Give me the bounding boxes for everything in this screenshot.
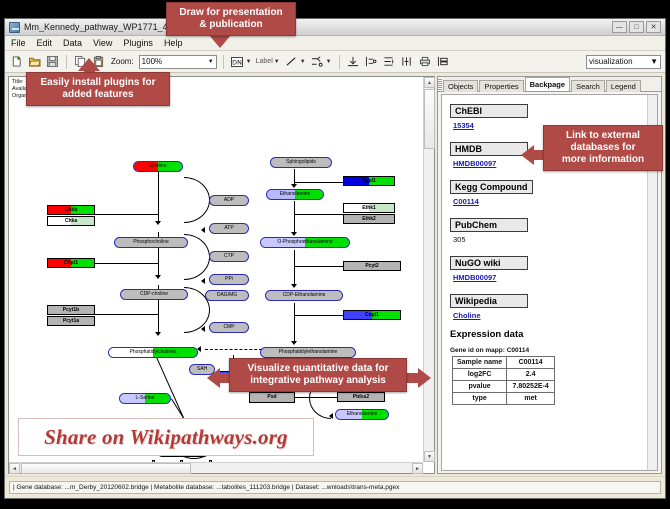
metabolite-node-dag-mg[interactable]: DAG/MG: [205, 290, 249, 301]
window-controls: — □ ✕: [612, 21, 661, 33]
expression-data-table: Sample name C00114 log2FC 2.4 pvalue 7.8…: [452, 356, 555, 405]
callout-visualize-data: Visualize quantitative data for integrat…: [229, 358, 407, 392]
cell-value: C00114: [507, 357, 555, 369]
metabolite-label: Phosphatidylethanolamine: [279, 350, 338, 355]
callout-draw-for-publication: Draw for presentation & publication: [166, 2, 296, 36]
gene-label: Ethk2: [362, 217, 376, 222]
metabolite-label: O-Phosphoethanolamine: [277, 240, 332, 245]
gene-node-chpt1[interactable]: Chpt1: [47, 258, 95, 268]
line-dropdown-icon[interactable]: ▼: [300, 59, 306, 65]
menu-item-help[interactable]: Help: [163, 38, 184, 48]
canvas-horizontal-scrollbar[interactable]: ◄ ►: [9, 462, 423, 473]
shape-tool-icon[interactable]: [310, 54, 325, 69]
tab-search[interactable]: Search: [571, 80, 605, 92]
callout-draw-arrow-icon: [209, 35, 231, 48]
edge-chpt1-to-reaction: [95, 263, 158, 264]
gene-node-pcyt2[interactable]: Pcyt2: [343, 261, 401, 271]
gene-label: Cept1: [365, 313, 379, 318]
open-folder-icon[interactable]: [27, 54, 42, 69]
align-left-icon[interactable]: [364, 54, 379, 69]
metabolite-node-phosphatidylethanolamine[interactable]: Phosphatidylethanolamine: [260, 347, 356, 358]
toolbar-separator-3: [339, 55, 340, 69]
datanode-tool-icon[interactable]: DN: [230, 54, 245, 69]
metabolite-label: PPi: [225, 277, 233, 282]
edge-ptdetn-to-ptdcholine: [205, 349, 267, 350]
metabolite-label: Choline: [150, 164, 167, 169]
save-icon[interactable]: [45, 54, 60, 69]
edge-ethanolamine-to-ophospho: [294, 201, 295, 233]
metabolite-node-cdp-ethanolamine[interactable]: CDP-Ethanolamine: [265, 290, 343, 301]
table-row: type met: [453, 393, 555, 405]
metabolite-label: ADP: [224, 198, 234, 203]
cofactor-curve-choline: [158, 177, 210, 223]
toolbar-separator-2: [223, 55, 224, 69]
cell-key: log2FC: [453, 369, 507, 381]
metabolite-label: Phosphatidylcholines: [130, 350, 177, 355]
metabolite-node-atp[interactable]: ATP: [209, 223, 249, 234]
chevron-down-icon: ▼: [650, 57, 658, 66]
menu-item-edit[interactable]: Edit: [36, 38, 54, 48]
edge-chk-to-reaction: [95, 214, 158, 215]
arrow-to-phosphocholine: [155, 221, 161, 225]
gene-label: Chpt1: [64, 261, 78, 266]
shape-dropdown-icon[interactable]: ▼: [326, 59, 332, 65]
edge-ptdcholine-to-choline-diag: [155, 355, 184, 419]
edge-pcyt1-to-reaction: [95, 314, 158, 315]
expression-data-title: Expression data: [450, 329, 641, 340]
callout-external-links: Link to external databases for more info…: [543, 125, 663, 171]
cell-value: met: [507, 393, 555, 405]
gene-node-sgpl1[interactable]: Sgpl1: [343, 176, 395, 186]
print-icon[interactable]: [418, 54, 433, 69]
metabolite-node-ctp[interactable]: CTP: [209, 251, 249, 262]
metabolite-node-cmp[interactable]: CMP: [209, 322, 249, 333]
backpage-header-nugo-wiki: NuGO wiki: [450, 256, 528, 270]
align-bottom-icon[interactable]: [346, 54, 361, 69]
gene-node-ethk2[interactable]: Ethk2: [343, 214, 395, 224]
metabolite-node-phosphocholine[interactable]: Phosphocholine: [114, 237, 188, 248]
close-button[interactable]: ✕: [646, 21, 661, 33]
backpage-header-wikipedia: Wikipedia: [450, 294, 528, 308]
metabolite-node-ppi[interactable]: PPi: [209, 274, 249, 285]
label-dropdown-icon[interactable]: ▼: [274, 59, 280, 65]
edge-cept1-to-reaction: [294, 315, 343, 316]
table-row: log2FC 2.4: [453, 369, 555, 381]
side-panel-tabs: Objects Properties Backpage Search Legen…: [438, 77, 661, 92]
menu-item-plugins[interactable]: Plugins: [122, 38, 154, 48]
value-pubchem: 305: [453, 235, 641, 244]
cell-key: type: [453, 393, 507, 405]
menu-item-file[interactable]: File: [10, 38, 27, 48]
metabolite-node-ethanolamine-2[interactable]: Ethanolamine: [335, 409, 389, 420]
menu-bar: File Edit Data View Plugins Help: [5, 36, 665, 51]
distribute-vertical-icon[interactable]: [382, 54, 397, 69]
tab-backpage[interactable]: Backpage: [525, 77, 570, 91]
chevron-down-icon: ▼: [208, 59, 214, 65]
maximize-button[interactable]: □: [629, 21, 644, 33]
arrow-to-phosphatidylethanolamine: [291, 341, 297, 345]
callout-visualize-line-2: integrative pathway analysis: [236, 375, 400, 387]
toolbar: Zoom: 100% ▼ DN ▼ Label ▼ ▼ ▼: [5, 51, 665, 73]
link-kegg-compound[interactable]: C00114: [453, 197, 641, 206]
scroll-down-arrow-icon[interactable]: ▼: [424, 451, 435, 462]
gene-label: Pcyt1a: [63, 319, 79, 324]
arrow-to-ppi: [201, 278, 205, 284]
metabolite-node-l-serine-left[interactable]: L-Serine: [119, 393, 171, 404]
gene-node-psd[interactable]: Psd: [249, 392, 295, 403]
gene-node-chkb[interactable]: Chkb: [47, 205, 95, 215]
arrow-to-atp: [201, 227, 205, 233]
metabolite-label: Ethanolamine: [280, 192, 311, 197]
canvas-vscroll-thumb[interactable]: [424, 89, 435, 149]
callout-draw-line-2: & publication: [173, 19, 289, 31]
callout-visualize-line-1: Visualize quantitative data for: [236, 363, 400, 375]
callout-visualize-right-stem: [405, 373, 419, 383]
metabolite-node-adp[interactable]: ADP: [209, 195, 249, 206]
stack-icon[interactable]: [436, 54, 451, 69]
gene-label: Pcyt1b: [63, 308, 79, 313]
gene-id-caption: Gene id on mapp: C00114: [450, 347, 641, 354]
arrow-to-cmp: [201, 326, 205, 332]
metabolite-node-phosphatidylcholines[interactable]: Phosphatidylcholines: [108, 347, 198, 358]
scroll-right-arrow-icon[interactable]: ►: [412, 463, 423, 474]
metabolite-label: CTP: [224, 254, 234, 259]
metabolite-label: Sphingolipids: [286, 160, 316, 165]
callout-links-line-1: Link to external: [550, 130, 656, 142]
gene-node-ptdss2[interactable]: Ptdss2: [337, 392, 385, 402]
pathway-canvas[interactable]: Title: Availa Organi: [9, 77, 423, 462]
metabolite-node-sphingolipids[interactable]: Sphingolipids: [270, 157, 332, 168]
metabolite-label: DAG/MG: [217, 293, 237, 298]
gene-node-pcyt1a[interactable]: Pcyt1a: [47, 316, 95, 326]
cell-value: 2.4: [507, 369, 555, 381]
zoom-combobox[interactable]: 100% ▼: [139, 55, 217, 69]
menu-item-data[interactable]: Data: [62, 38, 83, 48]
zoom-label: Zoom:: [111, 57, 134, 66]
tab-legend[interactable]: Legend: [606, 80, 641, 92]
gene-node-pcyt1b[interactable]: Pcyt1b: [47, 305, 95, 315]
toolbar-separator-1: [66, 55, 67, 69]
share-text: Share on Wikipathways.org: [44, 425, 288, 450]
backpage-header-chebi: ChEBI: [450, 104, 528, 118]
arrow-to-cdpethanolamine: [291, 284, 297, 288]
backpage-header-kegg-compound: Kegg Compound: [450, 180, 533, 194]
pathway-canvas-container: Title: Availa Organi: [8, 76, 435, 474]
visualization-combobox[interactable]: visualization ▼: [586, 55, 661, 69]
menu-item-view[interactable]: View: [92, 38, 113, 48]
scroll-left-arrow-icon[interactable]: ◄: [9, 463, 20, 474]
tab-properties[interactable]: Properties: [479, 80, 523, 92]
scroll-up-arrow-icon[interactable]: ▲: [424, 77, 435, 88]
callout-links-line-3: more information: [550, 154, 656, 166]
metabolite-label: Phosphocholine: [133, 240, 169, 245]
gene-label: Sgpl1: [362, 179, 376, 184]
callout-draw-line-1: Draw for presentation: [173, 7, 289, 19]
arrow-to-ophosphoethanolamine: [291, 232, 297, 236]
metabolite-label: CDP-Ethanolamine: [283, 293, 326, 298]
metabolite-node-ethanolamine[interactable]: Ethanolamine: [266, 189, 324, 200]
gene-label: Pcyt2: [365, 264, 378, 269]
table-row: Sample name C00114: [453, 357, 555, 369]
new-file-icon[interactable]: [9, 54, 24, 69]
metabolite-node-cdp-choline[interactable]: CDP-choline: [120, 289, 188, 300]
callout-plugins-line-2: added features: [33, 89, 163, 101]
gene-node-chka[interactable]: Chka: [47, 216, 95, 226]
edge-choline-to-phosphocholine: [158, 172, 159, 223]
selection-handle-s[interactable]: [180, 460, 183, 462]
datanode-dropdown-icon[interactable]: ▼: [246, 59, 252, 65]
status-bar: | Gene database: ...m_Derby_20120602.bri…: [5, 476, 665, 498]
callout-plugins-line-1: Easily install plugins for: [33, 77, 163, 89]
canvas-vertical-scrollbar[interactable]: ▲ ▼: [423, 77, 434, 462]
cell-key: pvalue: [453, 381, 507, 393]
edge-ophospho-to-cdpetn: [294, 250, 295, 286]
title-bar: Mm_Kennedy_pathway_WP1771_45176.gpml — □…: [5, 19, 665, 36]
link-nugo-wiki[interactable]: HMDB00097: [453, 273, 641, 282]
selection-handle-sw[interactable]: [152, 460, 155, 462]
edge-sgpl1-to-reaction: [294, 182, 343, 183]
edge-pcyt2-to-reaction: [294, 266, 343, 267]
metabolite-label: SAH: [197, 367, 207, 372]
gene-label: Chka: [65, 219, 77, 224]
gene-node-cept1[interactable]: Cept1: [343, 310, 401, 320]
gene-node-ethk1[interactable]: Ethk1: [343, 203, 395, 213]
label-tool-label[interactable]: Label: [256, 58, 273, 65]
canvas-hscroll-thumb[interactable]: [21, 463, 191, 474]
arrow-to-phosphatidylcholines: [155, 332, 161, 336]
selection-handle-se[interactable]: [209, 460, 212, 462]
distribute-horizontal-icon[interactable]: [400, 54, 415, 69]
metabolite-label: ATP: [224, 226, 233, 231]
arrow-to-ethanolamine: [291, 184, 297, 188]
tab-objects[interactable]: Objects: [443, 80, 478, 92]
link-wikipedia[interactable]: Choline: [453, 311, 641, 320]
visualization-value: visualization: [589, 57, 633, 66]
edge-ethk-to-reaction: [294, 214, 348, 215]
backpage-header-hmdb: HMDB: [450, 142, 528, 156]
metabolite-label: Ethanolamine: [347, 412, 378, 417]
status-text: | Gene database: ...m_Derby_20120602.bri…: [9, 481, 661, 494]
metabolite-label: L-Serine: [136, 396, 155, 401]
gene-label: Chkb: [65, 208, 78, 213]
gene-label: Ptdss2: [353, 395, 369, 400]
table-row: pvalue 7.80252E-4: [453, 381, 555, 393]
line-tool-icon[interactable]: [284, 54, 299, 69]
callout-install-plugins: Easily install plugins for added feature…: [26, 72, 170, 106]
callout-visualize-right-arrow-icon: [418, 368, 431, 388]
svg-text:DN: DN: [232, 59, 242, 66]
metabolite-label: CDP-choline: [140, 292, 168, 297]
metabolite-node-o-phosphoethanolamine[interactable]: O-Phosphoethanolamine: [260, 237, 350, 248]
callout-links-line-2: databases for: [550, 142, 656, 154]
backpage-header-pubchem: PubChem: [450, 218, 528, 232]
arrow-to-cdpcholine: [155, 275, 161, 279]
gene-label: Ethk1: [362, 206, 376, 211]
minimize-button[interactable]: —: [612, 21, 627, 33]
metabolite-node-choline[interactable]: Choline: [133, 161, 183, 172]
cell-key: Sample name: [453, 357, 507, 369]
edge-cdpetn-to-ptdetn: [294, 303, 295, 343]
zoom-value: 100%: [142, 57, 162, 66]
tab-grip-handle[interactable]: [438, 78, 442, 91]
gene-label: Psd: [267, 395, 276, 400]
callout-share-wikipathways: Share on Wikipathways.org: [18, 418, 314, 456]
application-icon: [9, 22, 20, 33]
cell-value: 7.80252E-4: [507, 381, 555, 393]
metabolite-label: CMP: [223, 325, 234, 330]
